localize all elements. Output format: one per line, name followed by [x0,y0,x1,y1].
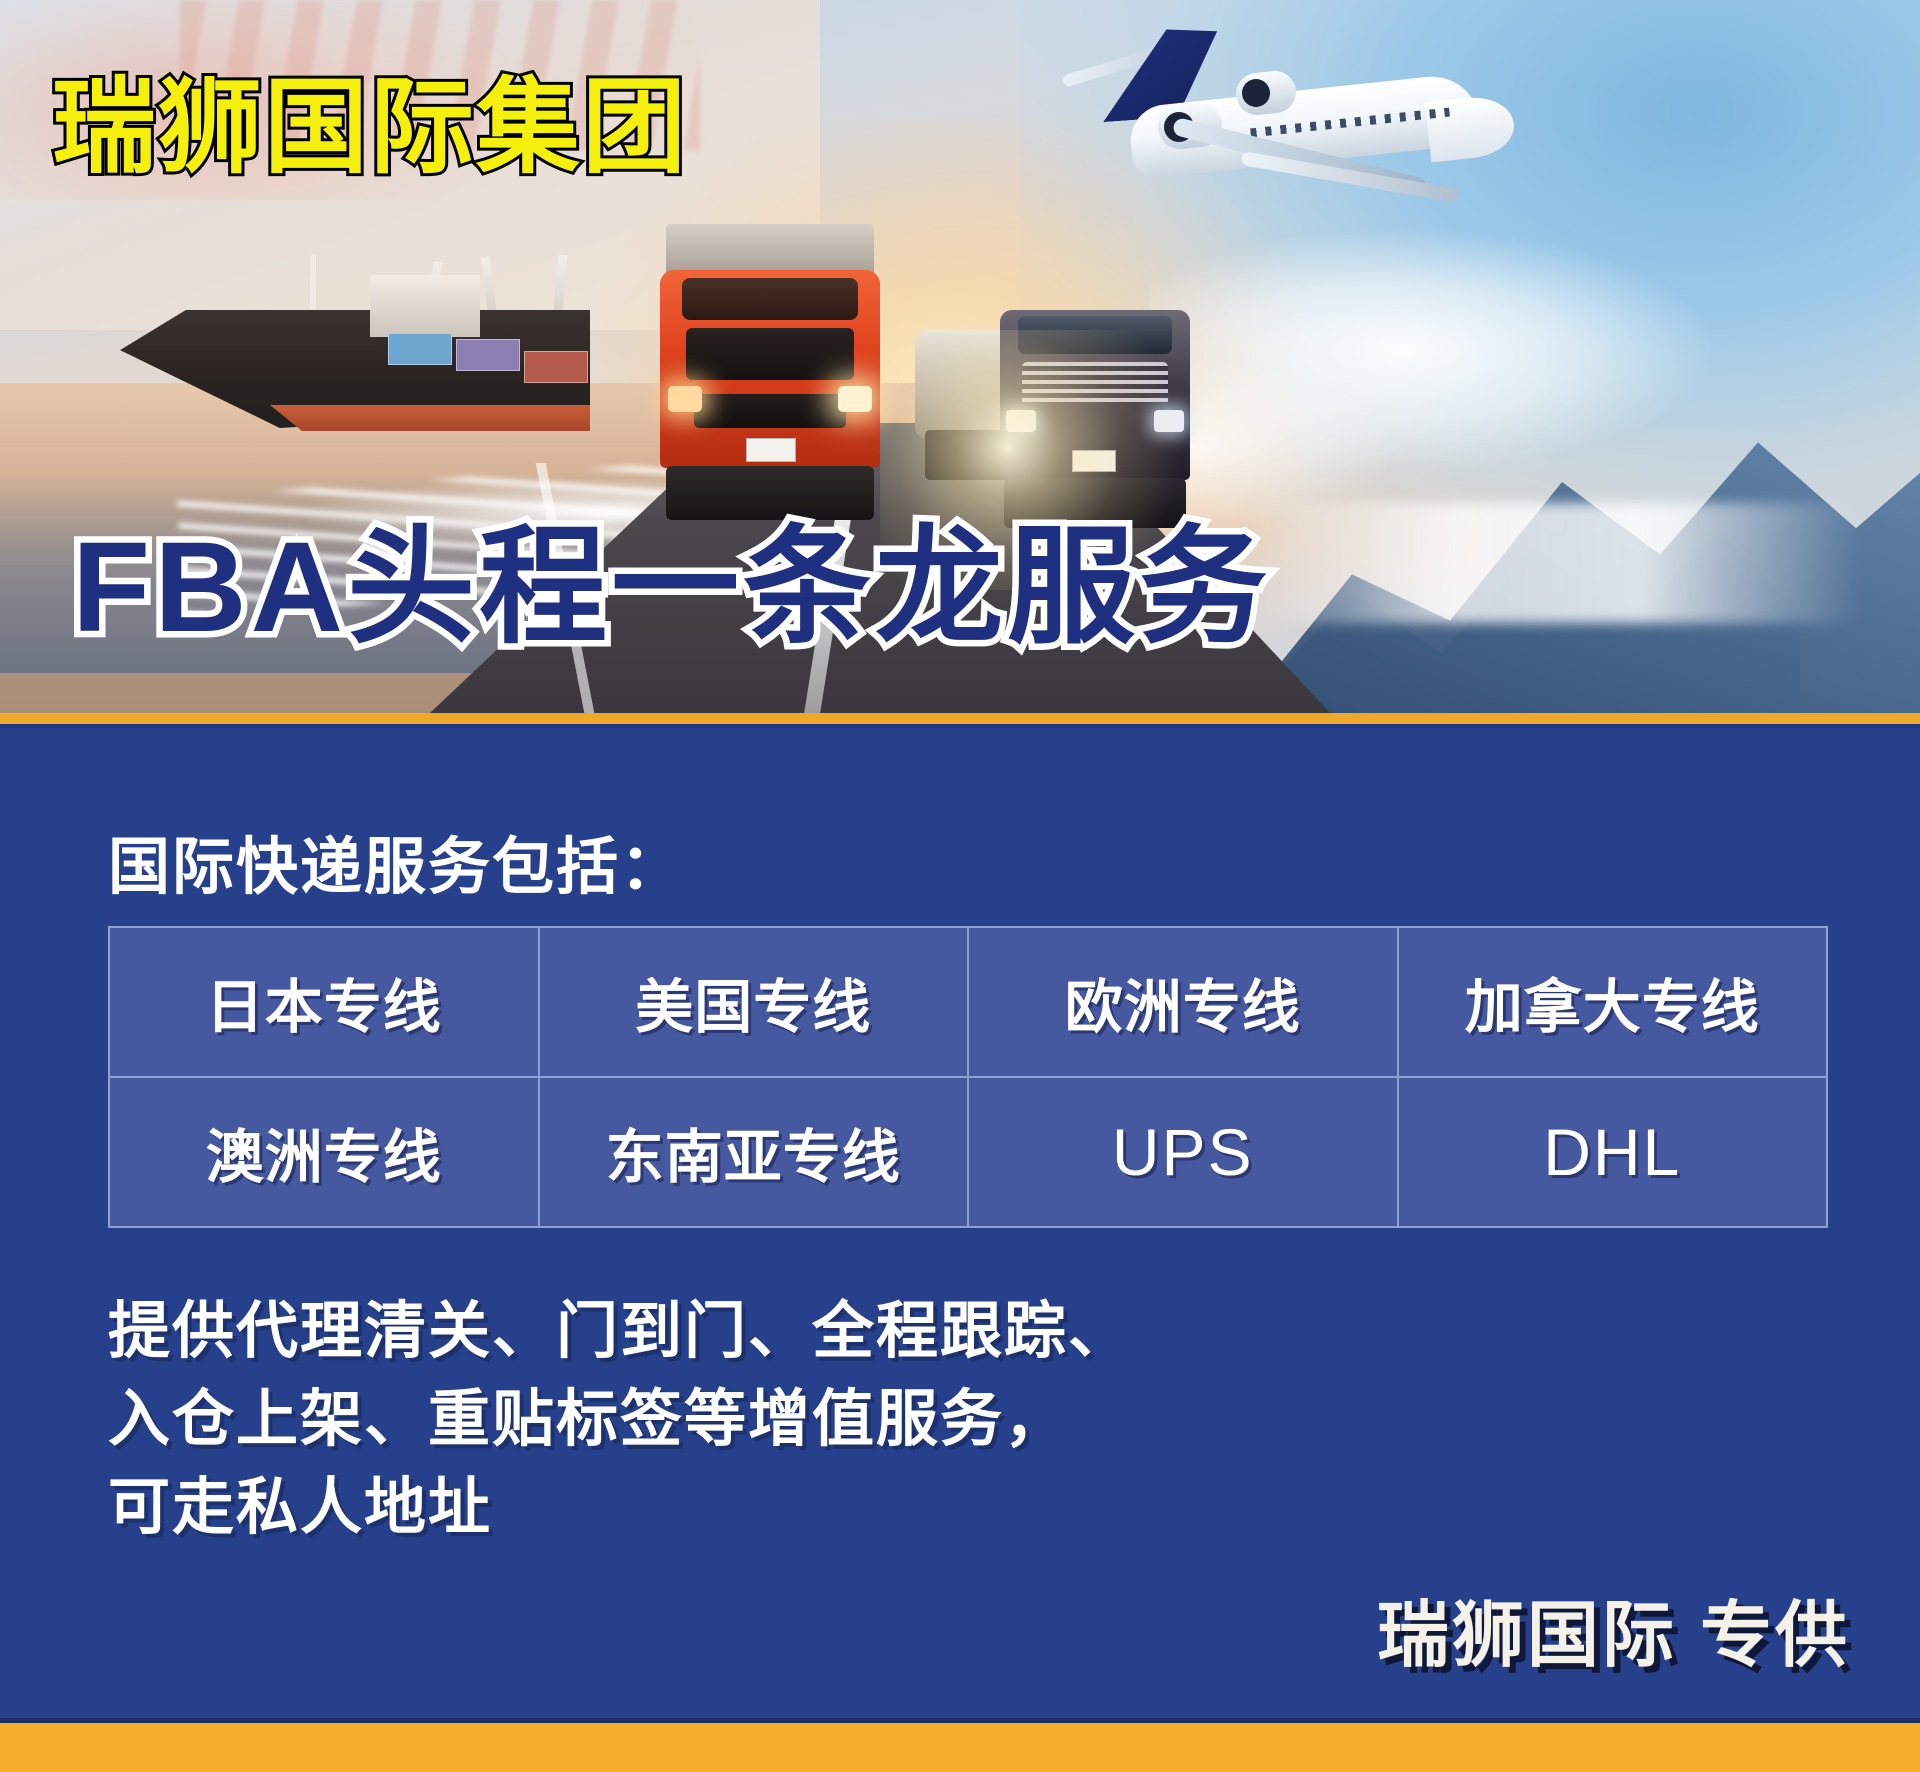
panel-title: 国际快递服务包括： [108,816,684,906]
panel-signature: 瑞狮国际 专供 [1377,1576,1850,1681]
info-panel: 国际快递服务包括： 日本专线 美国专线 欧洲专线 加拿大专线 澳洲专线 东南亚专… [0,728,1920,1723]
service-lines-table: 日本专线 美国专线 欧洲专线 加拿大专线 澳洲专线 东南亚专线 UPS DHL [108,926,1828,1228]
service-cell[interactable]: 日本专线 [109,927,539,1077]
services-paragraph: 提供代理清关、门到门、全程跟踪、 入仓上架、重贴标签等增值服务， 可走私人地址 [108,1288,1132,1552]
table-row: 澳洲专线 东南亚专线 UPS DHL [109,1077,1827,1227]
brand-logo-text: 瑞狮国际集团 [52,76,688,180]
service-cell[interactable]: 美国专线 [539,927,969,1077]
service-cell-ups[interactable]: UPS [968,1077,1398,1227]
mountain-mist [1240,503,1860,623]
hero-headline: FBA头程一条龙服务 [72,524,1271,652]
service-cell[interactable]: 澳洲专线 [109,1077,539,1227]
service-cell[interactable]: 加拿大专线 [1398,927,1828,1077]
airplane-icon [1040,20,1510,240]
cargo-ship-icon [120,255,590,440]
table-row: 日本专线 美国专线 欧洲专线 加拿大专线 [109,927,1827,1077]
service-cell[interactable]: 欧洲专线 [968,927,1398,1077]
service-lines-table-body: 日本专线 美国专线 欧洲专线 加拿大专线 澳洲专线 东南亚专线 UPS DHL [109,927,1827,1227]
gold-divider-bar [0,713,1920,724]
hero-image: 瑞狮国际集团 FBA头程一条龙服务 [0,0,1920,713]
services-paragraph-line-3: 可走私人地址 [108,1464,1132,1552]
services-paragraph-line-1: 提供代理清关、门到门、全程跟踪、 [108,1288,1132,1376]
poster-root: 瑞狮国际集团 FBA头程一条龙服务 国际快递服务包括： 日本专线 美国专线 欧洲… [0,0,1920,1772]
service-cell[interactable]: 东南亚专线 [539,1077,969,1227]
red-truck-icon [660,270,880,520]
service-cell-dhl[interactable]: DHL [1398,1077,1828,1227]
footer-gold-bar [0,1723,1920,1772]
services-paragraph-line-2: 入仓上架、重贴标签等增值服务， [108,1376,1132,1464]
